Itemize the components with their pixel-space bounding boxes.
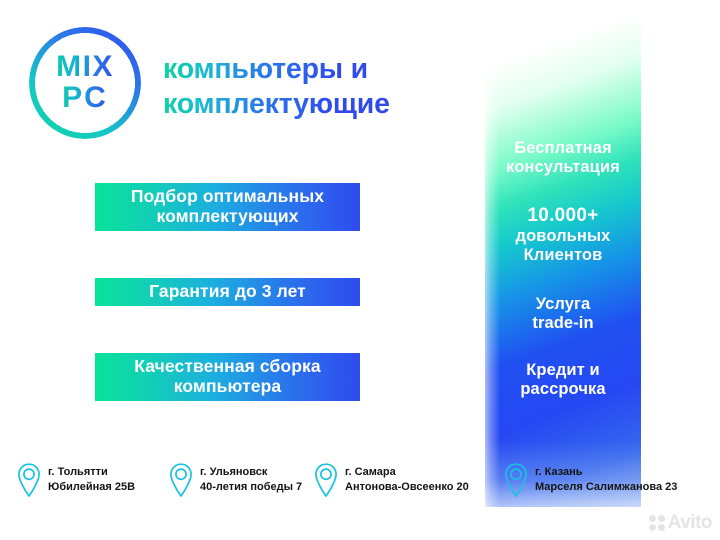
benefit-2-line-2: Клиентов xyxy=(524,246,603,264)
benefit-4-line-2: рассрочка xyxy=(520,380,605,398)
address-item-kazan: г. Казань Марселя Салимжанова 23 xyxy=(503,462,677,498)
benefit-credit-installment: Кредит и рассрочка xyxy=(485,361,641,399)
logo-text-mix: MIX xyxy=(56,52,114,83)
benefit-1-line-1: Бесплатная xyxy=(514,139,611,157)
poster-canvas: Бесплатная консультация 10.000+ довольны… xyxy=(0,0,720,540)
benefit-1-line-2: консультация xyxy=(506,158,620,176)
avito-watermark: Avito xyxy=(649,512,712,534)
avito-dot xyxy=(649,524,656,531)
benefit-free-consultation: Бесплатная консультация xyxy=(485,139,641,177)
benefit-3-line-1: Услуга xyxy=(536,295,591,313)
map-pin-icon xyxy=(503,462,529,498)
address-street: 40-летия победы 7 xyxy=(200,480,302,495)
address-item-tolyatti: г. Тольятти Юбилейная 25В xyxy=(16,462,135,498)
address-text: г. Самара Антонова-Овсеенко 20 xyxy=(345,465,469,495)
map-pin-icon xyxy=(168,462,194,498)
avito-logo-icon xyxy=(649,515,665,531)
benefit-clients-count: 10.000+ довольных Клиентов xyxy=(485,205,641,265)
map-pin-icon xyxy=(313,462,339,498)
logo-mark: MIX PC xyxy=(29,27,141,139)
address-item-samara: г. Самара Антонова-Овсеенко 20 xyxy=(313,462,469,498)
feature-banner-quality-build: Качественная сборка компьютера xyxy=(95,353,360,401)
benefit-4-line-1: Кредит и xyxy=(526,361,600,379)
avito-dot xyxy=(658,524,665,531)
logo-text-pc: PC xyxy=(62,83,108,114)
page-title: компьютеры и комплектующие xyxy=(163,52,493,122)
avito-wordmark: Avito xyxy=(668,512,712,534)
headline-line-1: компьютеры и xyxy=(163,53,368,85)
feature-banner-warranty: Гарантия до 3 лет xyxy=(95,278,360,306)
address-text: г. Ульяновск 40-летия победы 7 xyxy=(200,465,302,495)
benefit-trade-in: Услуга trade-in xyxy=(485,295,641,333)
address-city: г. Ульяновск xyxy=(200,465,302,480)
address-text: г. Казань Марселя Салимжанова 23 xyxy=(535,465,677,495)
headline-line-2: комплектующие xyxy=(163,88,390,120)
avito-dot xyxy=(658,515,665,522)
address-city: г. Тольятти xyxy=(48,465,135,480)
address-street: Юбилейная 25В xyxy=(48,480,135,495)
address-street: Марселя Салимжанова 23 xyxy=(535,480,677,495)
right-panel-content: Бесплатная консультация 10.000+ довольны… xyxy=(485,0,641,507)
address-city: г. Самара xyxy=(345,465,469,480)
address-city: г. Казань xyxy=(535,465,677,480)
address-street: Антонова-Овсеенко 20 xyxy=(345,480,469,495)
feature-banner-optimal-parts: Подбор оптимальных комплектующих xyxy=(95,183,360,231)
avito-dot xyxy=(649,515,656,522)
benefit-2-line-1: довольных xyxy=(516,227,611,245)
address-text: г. Тольятти Юбилейная 25В xyxy=(48,465,135,495)
address-item-ulyanovsk: г. Ульяновск 40-летия победы 7 xyxy=(168,462,302,498)
benefit-2-count: 10.000+ xyxy=(485,205,641,227)
benefit-3-line-2: trade-in xyxy=(532,314,593,332)
map-pin-icon xyxy=(16,462,42,498)
